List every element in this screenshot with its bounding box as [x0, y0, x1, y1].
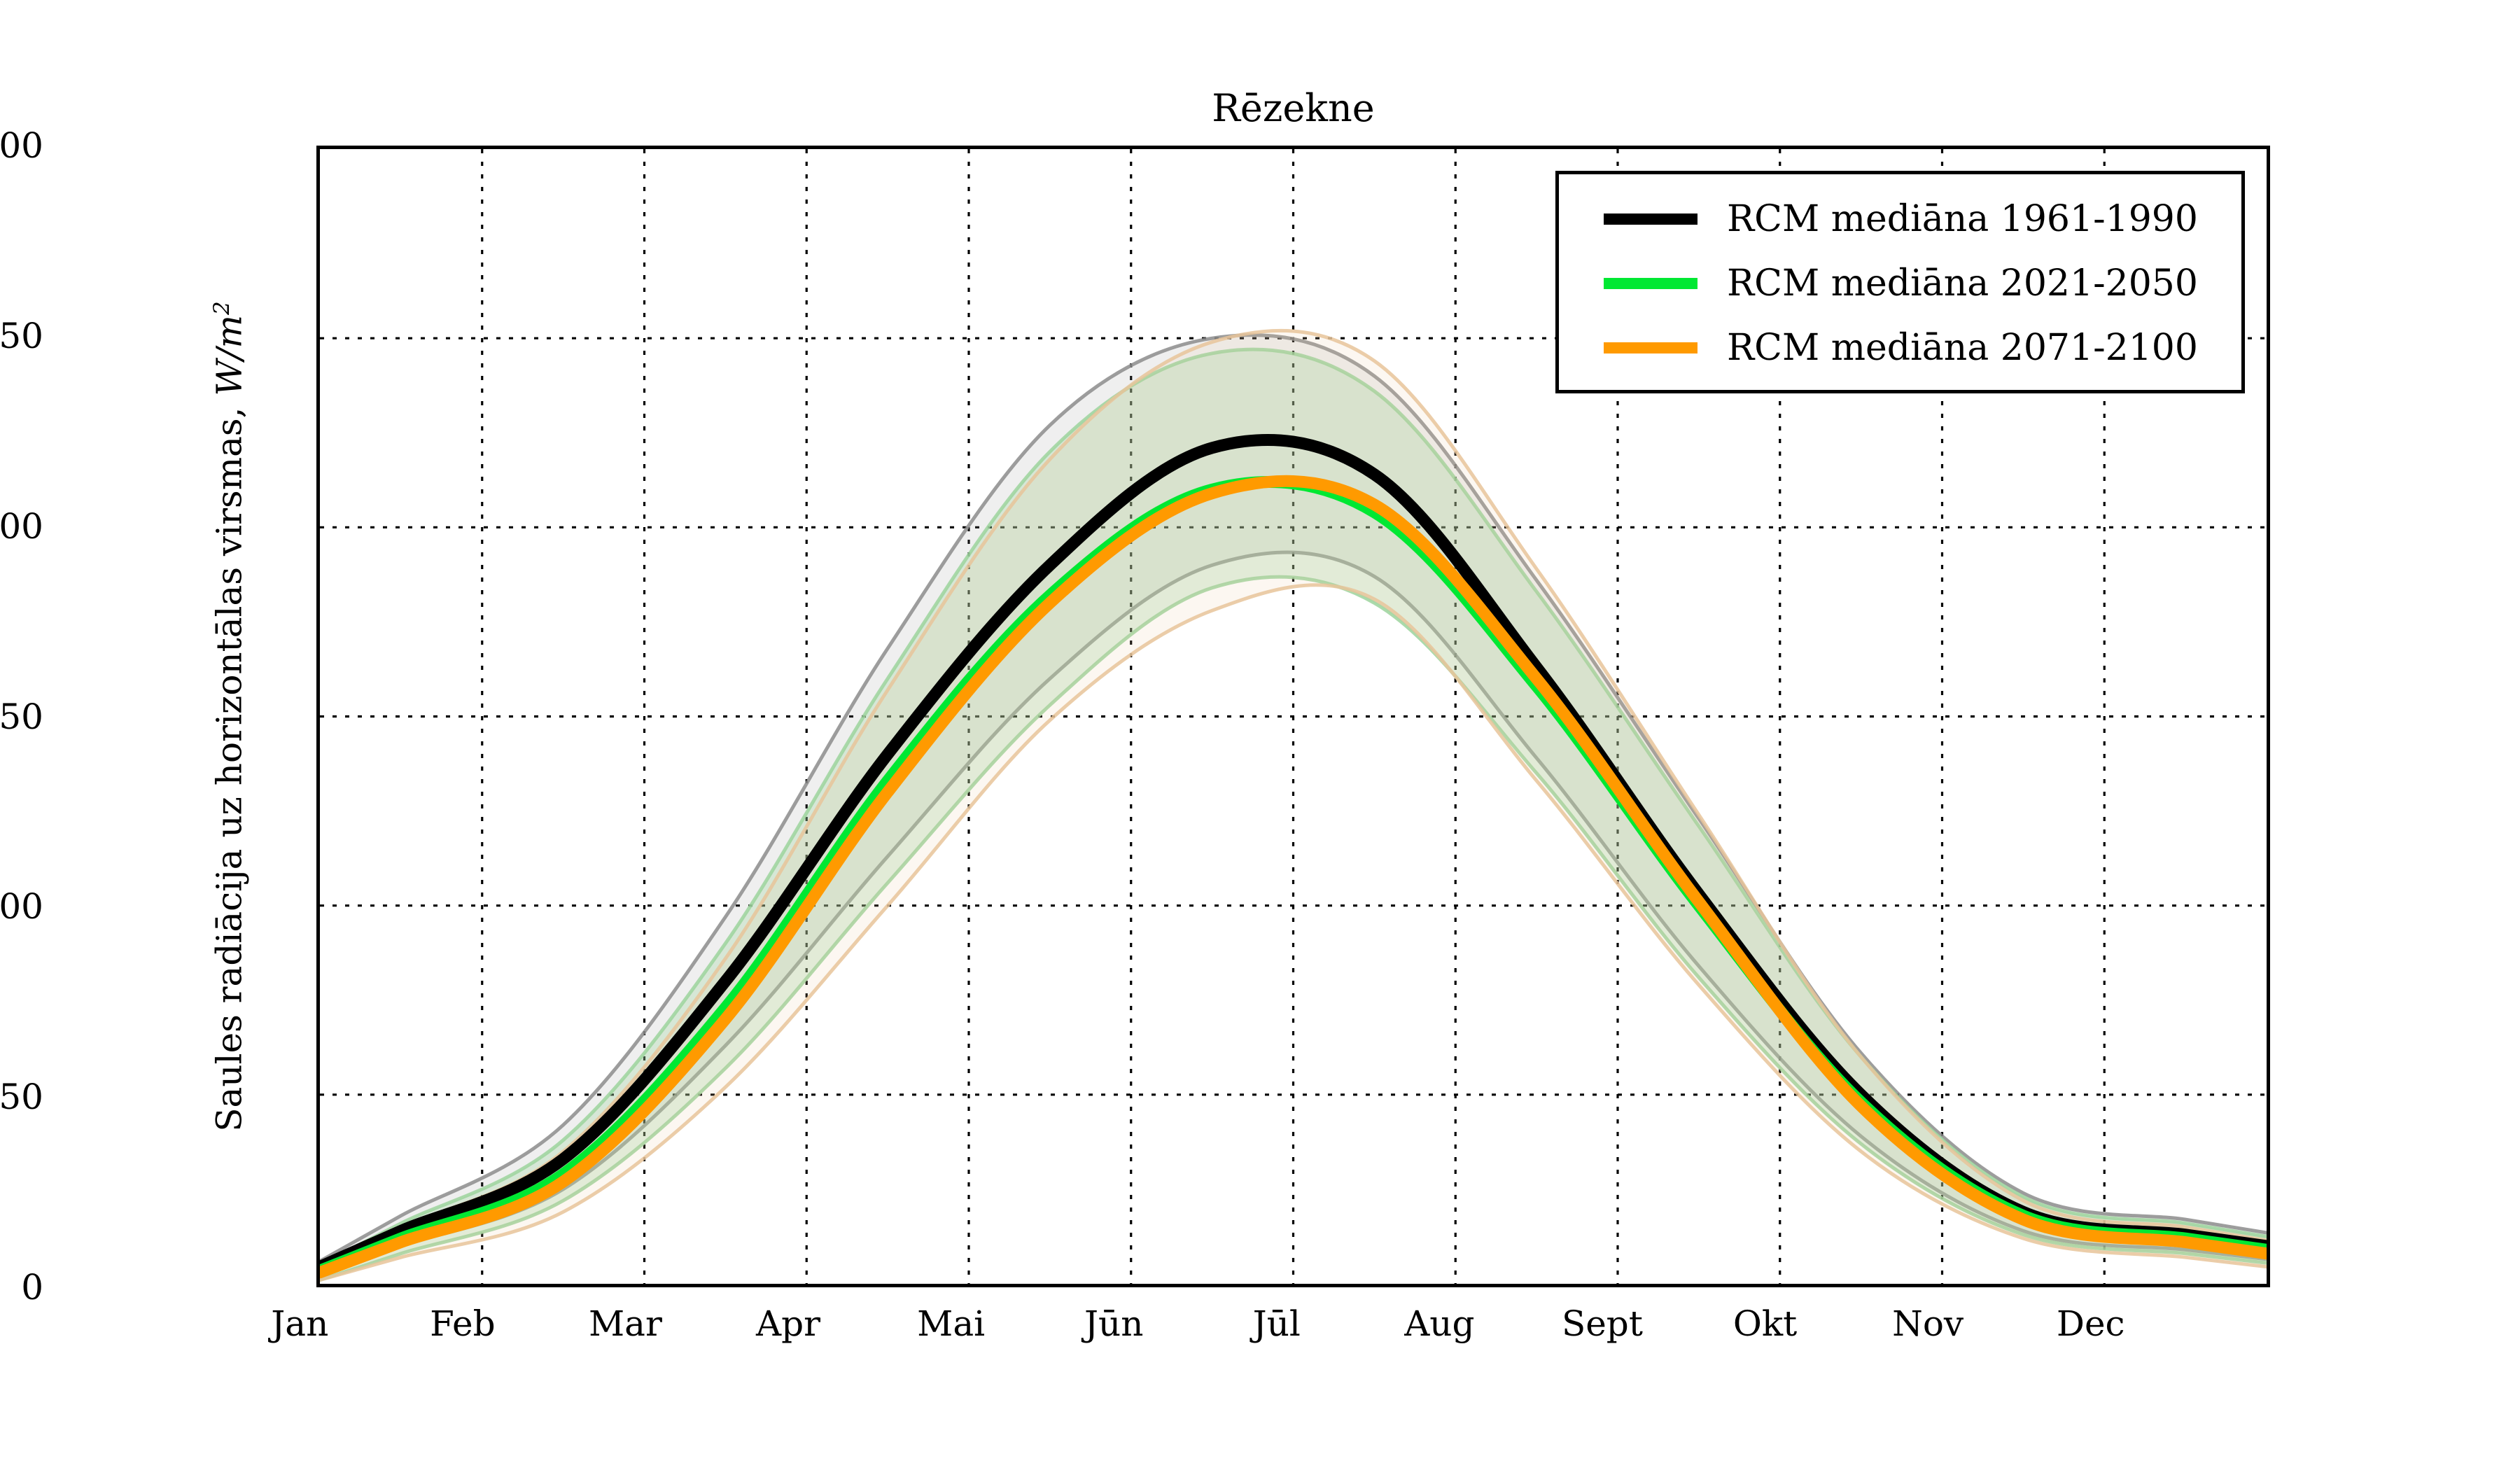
- legend-item[interactable]: RCM mediāna 2021-2050: [1559, 251, 2241, 316]
- legend-swatch-icon: [1604, 342, 1697, 353]
- y-axis-unit-exponent: 2: [209, 301, 234, 315]
- y-tick-label: 50: [0, 1077, 43, 1117]
- legend-item-label: RCM mediāna 1961-1990: [1727, 201, 2198, 237]
- y-tick-label: 100: [0, 886, 43, 927]
- legend-swatch-icon: [1604, 213, 1697, 225]
- legend-swatch-icon: [1604, 278, 1697, 289]
- chart-legend: RCM mediāna 1961-1990RCM mediāna 2021-20…: [1555, 171, 2245, 393]
- figure-canvas: Rēzekne Saules radiācija uz horizontālas…: [0, 0, 2520, 1470]
- page-title: Rēzekne: [316, 90, 2270, 127]
- y-tick-label: 300: [0, 125, 43, 166]
- y-tick-label: 150: [0, 696, 43, 737]
- legend-item[interactable]: RCM mediāna 2071-2100: [1559, 316, 2241, 380]
- legend-item[interactable]: RCM mediāna 1961-1990: [1559, 187, 2241, 251]
- x-tick-label: Dec: [1993, 1303, 2189, 1344]
- legend-item-label: RCM mediāna 2021-2050: [1727, 265, 2198, 302]
- y-tick-label: 0: [0, 1267, 43, 1308]
- y-tick-label: 250: [0, 316, 43, 356]
- y-axis-label-text: Saules radiācija uz horizontālas virsmas…: [209, 396, 250, 1132]
- y-axis-unit: W/m: [209, 315, 250, 396]
- y-axis-label: Saules radiācija uz horizontālas virsmas…: [183, 146, 260, 1287]
- legend-item-label: RCM mediāna 2071-2100: [1727, 330, 2198, 366]
- y-tick-label: 200: [0, 506, 43, 547]
